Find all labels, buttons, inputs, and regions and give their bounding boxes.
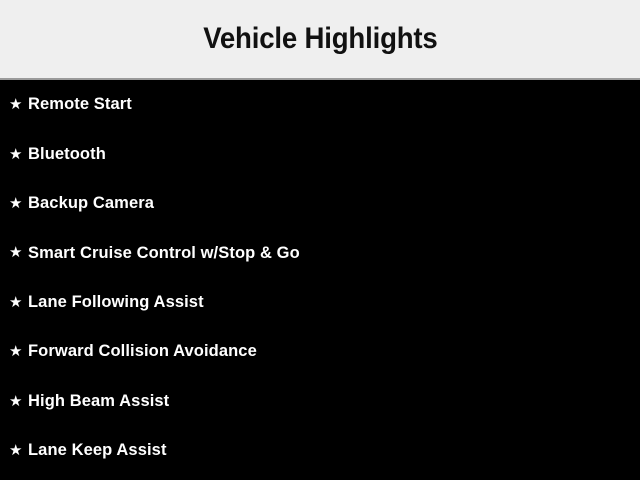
star-bullet-icon: ★: [9, 147, 28, 162]
star-bullet-icon: ★: [9, 97, 28, 112]
vehicle-highlights-panel: Vehicle Highlights ★ Remote Start ★ Blue…: [0, 0, 640, 480]
highlight-label: Forward Collision Avoidance: [28, 343, 257, 360]
list-item: ★ Bluetooth: [0, 129, 640, 178]
list-item: ★ High Beam Assist: [0, 376, 640, 425]
highlight-label: Smart Cruise Control w/Stop & Go: [28, 245, 300, 262]
highlight-label: Remote Start: [28, 96, 132, 113]
list-item: ★ Smart Cruise Control w/Stop & Go: [0, 228, 640, 277]
highlight-label: Lane Keep Assist: [28, 442, 167, 459]
star-bullet-icon: ★: [9, 196, 28, 211]
page-title: Vehicle Highlights: [203, 24, 437, 54]
highlight-label: Backup Camera: [28, 195, 154, 212]
star-bullet-icon: ★: [9, 245, 28, 260]
highlights-list: ★ Remote Start ★ Bluetooth ★ Backup Came…: [0, 80, 640, 480]
star-bullet-icon: ★: [9, 443, 28, 458]
panel-header: Vehicle Highlights: [0, 0, 640, 78]
star-bullet-icon: ★: [9, 394, 28, 409]
list-item: ★ Lane Keep Assist: [0, 426, 640, 475]
list-item: ★ Backup Camera: [0, 179, 640, 228]
list-item: ★ Forward Collision Avoidance: [0, 327, 640, 376]
list-item: ★ Remote Start: [0, 80, 640, 129]
star-bullet-icon: ★: [9, 295, 28, 310]
highlight-label: Lane Following Assist: [28, 294, 204, 311]
highlight-label: High Beam Assist: [28, 393, 169, 410]
highlight-label: Bluetooth: [28, 146, 106, 163]
list-item: ★ Lane Following Assist: [0, 278, 640, 327]
star-bullet-icon: ★: [9, 344, 28, 359]
